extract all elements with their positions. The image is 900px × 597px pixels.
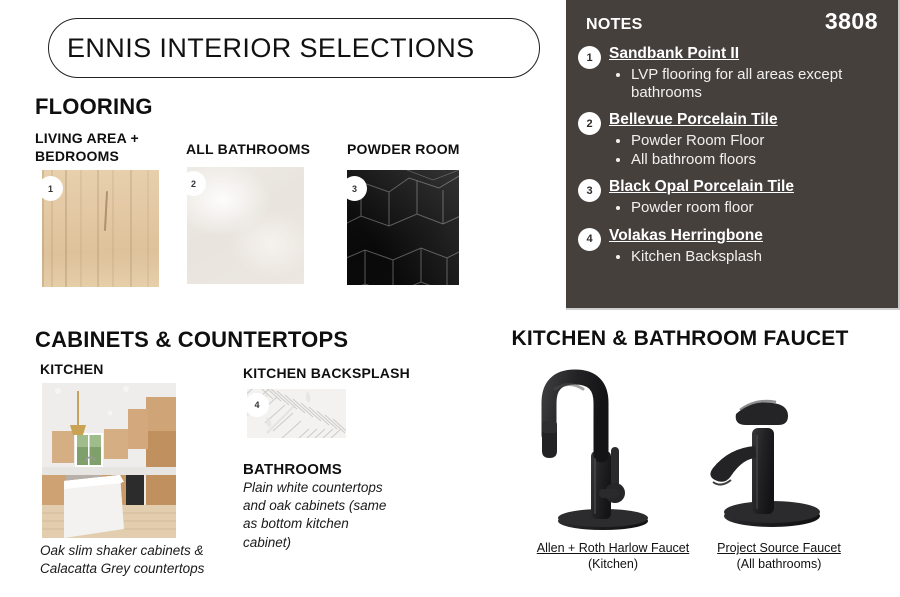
note-bullet: Powder room floor — [631, 199, 884, 217]
swatch-powder-room-black-opal[interactable]: 3 — [347, 170, 459, 285]
kitchen-photo[interactable] — [42, 383, 176, 538]
board-title-pill: ENNIS INTERIOR SELECTIONS — [48, 18, 540, 78]
note-title-2[interactable]: Bellevue Porcelain Tile — [609, 111, 884, 129]
kitchen-label: KITCHEN — [40, 361, 104, 379]
kitchen-caption: Oak slim shaker cabinets & Calacatta Gre… — [40, 542, 240, 578]
notes-header: NOTES 3808 — [578, 8, 884, 35]
note-bullet: LVP flooring for all areas except bathro… — [631, 66, 884, 101]
swatch-living-area-bedrooms-lvp[interactable]: 1 — [42, 170, 159, 287]
note-number-badge-1: 1 — [578, 46, 601, 69]
note-bullets-4: Kitchen Backsplash — [609, 248, 884, 266]
flooring-label-all-bathrooms: ALL BATHROOMS — [186, 141, 310, 159]
swatch-all-bathrooms-porcelain[interactable]: 2 — [187, 167, 304, 284]
kitchen-faucet-image[interactable] — [515, 363, 685, 538]
note-item-4: 4 Volakas Herringbone Kitchen Backsplash — [578, 227, 884, 266]
note-number-badge-3: 3 — [578, 179, 601, 202]
notes-lot-number: 3808 — [825, 8, 878, 35]
page-title: ENNIS INTERIOR SELECTIONS — [49, 33, 475, 64]
flooring-label-living-area-bedrooms: LIVING AREA +BEDROOMS — [35, 130, 175, 165]
kitchen-backsplash-label: KITCHEN BACKSPLASH — [243, 365, 410, 383]
bathrooms-label: BATHROOMS — [243, 461, 342, 480]
note-bullet: Powder Room Floor — [631, 132, 884, 150]
swatch-kitchen-backsplash-volakas[interactable]: 4 — [247, 389, 346, 438]
note-item-1: 1 Sandbank Point II LVP flooring for all… — [578, 45, 884, 101]
swatch-badge-1: 1 — [42, 176, 63, 201]
note-number-badge-2: 2 — [578, 112, 601, 135]
note-item-3: 3 Black Opal Porcelain Tile Powder room … — [578, 178, 884, 217]
note-title-3[interactable]: Black Opal Porcelain Tile — [609, 178, 884, 196]
note-bullet: All bathroom floors — [631, 151, 884, 169]
note-bullets-3: Powder room floor — [609, 199, 884, 217]
bathroom-faucet-scope: (All bathrooms) — [672, 556, 886, 572]
swatch-badge-2: 2 — [187, 171, 206, 196]
flooring-section-heading: FLOORING — [35, 94, 153, 120]
notes-panel: NOTES 3808 1 Sandbank Point II LVP floor… — [566, 0, 898, 310]
notes-panel-bottom-edge — [566, 308, 900, 310]
cabinets-section-heading: CABINETS & COUNTERTOPS — [35, 327, 348, 353]
bathroom-faucet-image[interactable] — [700, 392, 850, 542]
notes-label: NOTES — [586, 16, 643, 34]
note-bullets-1: LVP flooring for all areas except bathro… — [609, 66, 884, 101]
note-title-4[interactable]: Volakas Herringbone — [609, 227, 884, 245]
note-bullets-2: Powder Room Floor All bathroom floors — [609, 132, 884, 168]
note-number-badge-4: 4 — [578, 228, 601, 251]
faucet-section-heading: KITCHEN & BATHROOM FAUCET — [500, 327, 860, 351]
note-bullet: Kitchen Backsplash — [631, 248, 884, 266]
note-item-2: 2 Bellevue Porcelain Tile Powder Room Fl… — [578, 111, 884, 168]
note-title-1[interactable]: Sandbank Point II — [609, 45, 884, 63]
bathroom-faucet-name[interactable]: Project Source Faucet — [672, 540, 886, 556]
bathroom-faucet-caption: Project Source Faucet (All bathrooms) — [672, 540, 886, 573]
bathrooms-description: Plain white countertops and oak cabinets… — [243, 479, 395, 552]
flooring-label-powder-room: POWDER ROOM — [347, 141, 460, 159]
